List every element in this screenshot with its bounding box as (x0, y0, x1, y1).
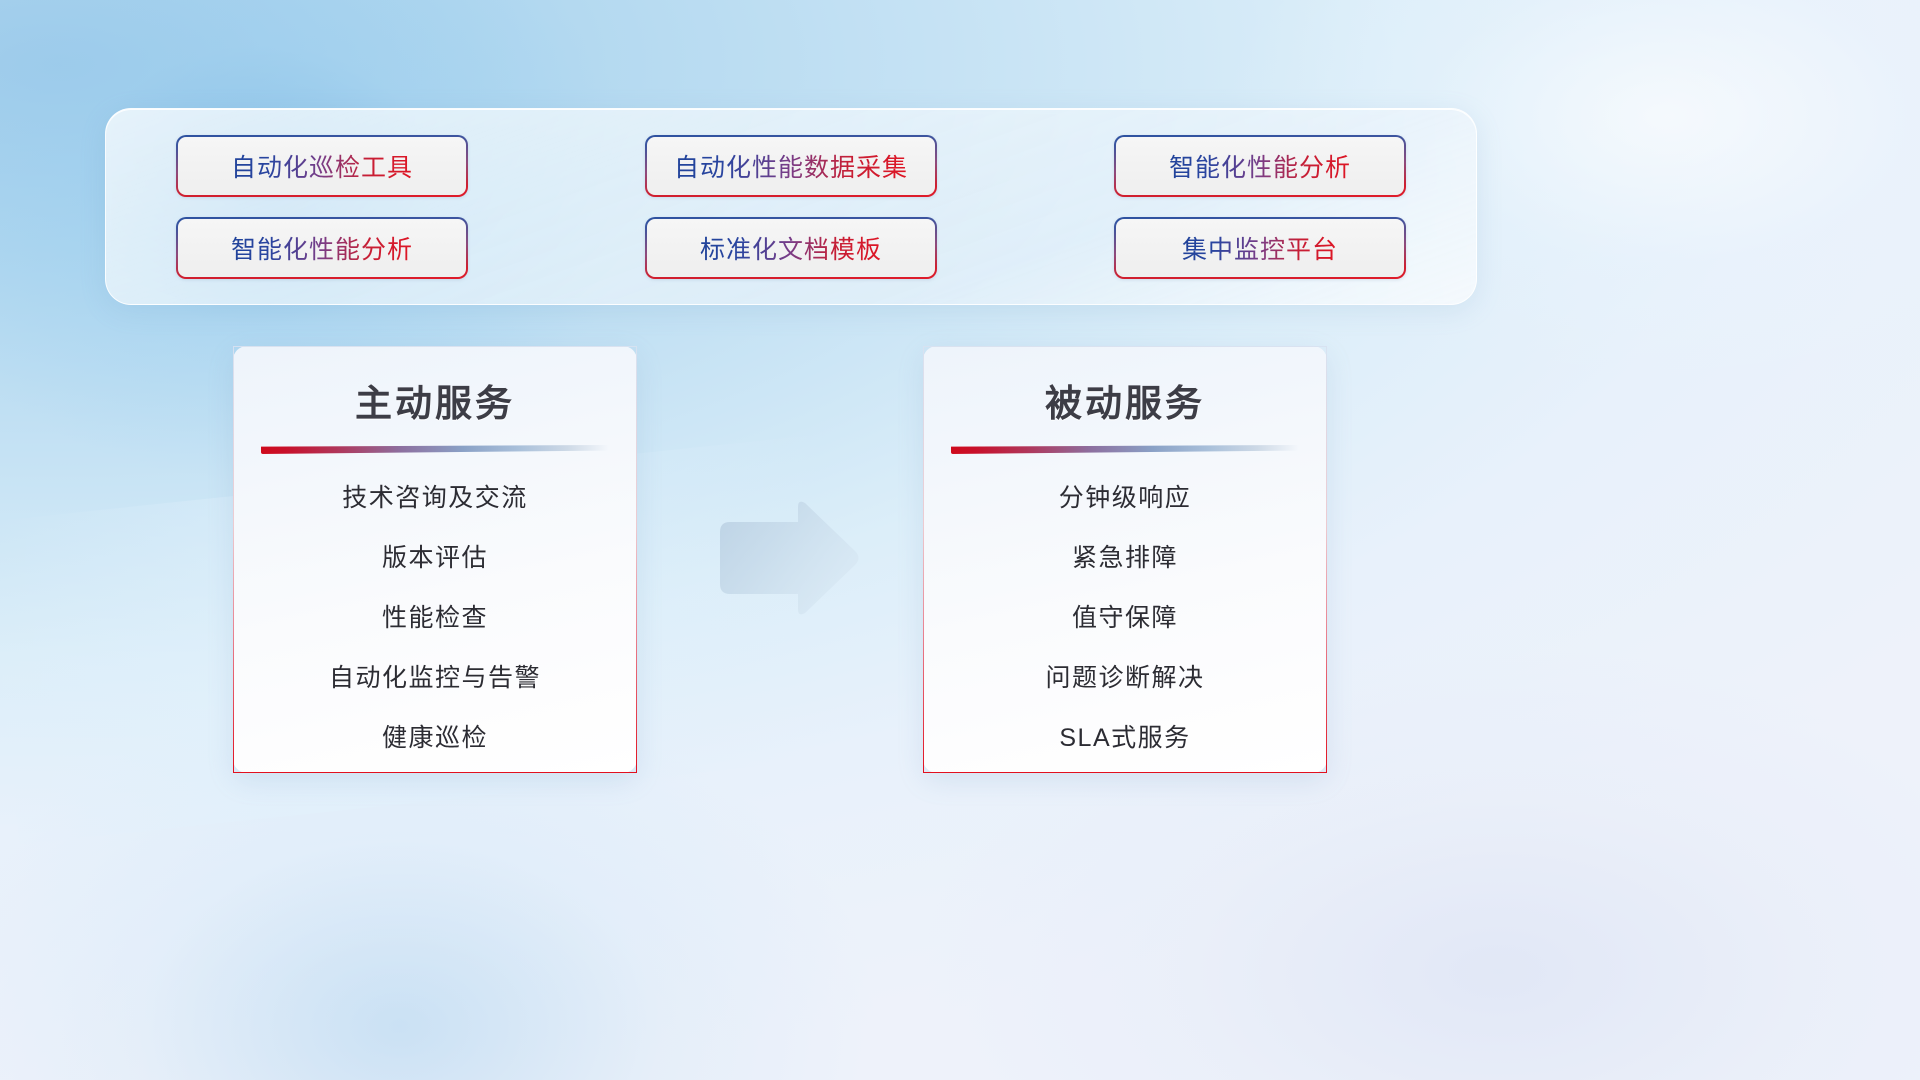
pill-inner: 自动化性能数据采集 (647, 137, 935, 195)
list-item[interactable]: SLA式服务 (1059, 718, 1190, 754)
pill-inner: 自动化巡检工具 (178, 137, 466, 195)
list-item[interactable]: 性能检查 (382, 598, 488, 634)
card-list: 技术咨询及交流 版本评估 性能检查 自动化监控与告警 健康巡检 (234, 478, 636, 754)
pill-inner: 智能化性能分析 (178, 219, 466, 277)
card-title: 主动服务 (355, 373, 515, 427)
pill-row-1: 自动化巡检工具 自动化性能数据采集 智能化性能分析 (176, 135, 1406, 197)
pill-inner: 标准化文档模板 (647, 219, 935, 277)
card-divider-bar (261, 445, 609, 454)
list-item[interactable]: 值守保障 (1072, 598, 1178, 634)
pill-button-auto-inspection-tool[interactable]: 自动化巡检工具 (176, 135, 468, 197)
pill-label: 集中监控平台 (1182, 230, 1338, 266)
capability-pill-panel: 自动化巡检工具 自动化性能数据采集 智能化性能分析 智能化性能分析 (105, 108, 1477, 305)
pill-inner: 智能化性能分析 (1116, 137, 1404, 195)
pill-button-intelligent-perf-analysis-1[interactable]: 智能化性能分析 (1114, 135, 1406, 197)
card-divider (261, 445, 609, 454)
pill-label: 自动化性能数据采集 (674, 148, 908, 184)
card-divider (951, 445, 1299, 454)
list-item[interactable]: 紧急排障 (1072, 538, 1178, 574)
arrow-right-icon (712, 498, 860, 618)
pill-label: 智能化性能分析 (231, 230, 413, 266)
card-divider-bar (951, 445, 1299, 454)
pill-label: 智能化性能分析 (1169, 148, 1351, 184)
pill-inner: 集中监控平台 (1116, 219, 1404, 277)
list-item[interactable]: 技术咨询及交流 (342, 478, 528, 514)
card-title: 被动服务 (1045, 373, 1205, 427)
proactive-service-card: 主动服务 技术咨询及交流 版本评估 性能检查 自动化监控与告警 健康巡检 (233, 346, 637, 773)
list-item[interactable]: 问题诊断解决 (1045, 658, 1204, 694)
pill-button-central-monitoring-platform[interactable]: 集中监控平台 (1114, 217, 1406, 279)
pill-label: 自动化巡检工具 (231, 148, 413, 184)
list-item[interactable]: 版本评估 (382, 538, 488, 574)
reactive-service-card: 被动服务 分钟级响应 紧急排障 值守保障 问题诊断解决 SLA式服务 (923, 346, 1327, 773)
list-item[interactable]: 健康巡检 (382, 718, 488, 754)
pill-button-auto-perf-data-collection[interactable]: 自动化性能数据采集 (645, 135, 937, 197)
list-item[interactable]: 分钟级响应 (1059, 478, 1192, 514)
right-arrow (712, 498, 860, 618)
pill-button-intelligent-perf-analysis-2[interactable]: 智能化性能分析 (176, 217, 468, 279)
pill-label: 标准化文档模板 (700, 230, 882, 266)
pill-button-standard-doc-template[interactable]: 标准化文档模板 (645, 217, 937, 279)
list-item[interactable]: 自动化监控与告警 (329, 658, 541, 694)
diagram-stage: 自动化巡检工具 自动化性能数据采集 智能化性能分析 智能化性能分析 (0, 0, 1920, 1080)
card-list: 分钟级响应 紧急排障 值守保障 问题诊断解决 SLA式服务 (924, 478, 1326, 754)
pill-row-2: 智能化性能分析 标准化文档模板 集中监控平台 (176, 217, 1406, 279)
